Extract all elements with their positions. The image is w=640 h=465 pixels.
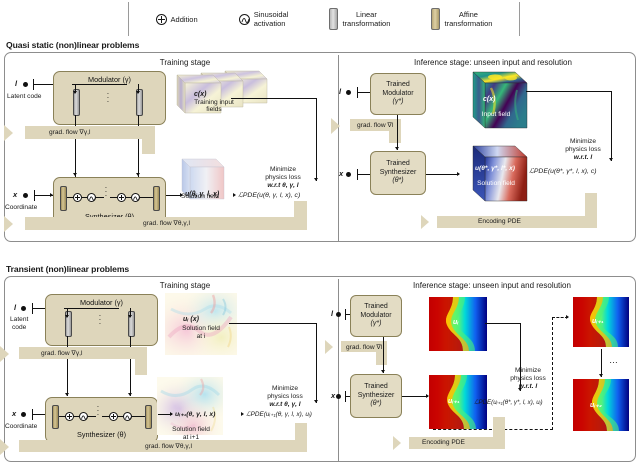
panel2-ellipsis-label: … (609, 355, 618, 365)
panel1-trained-synthesizer-box: Trained Synthesizer (θ*) (370, 151, 426, 195)
panel1-loss-arrow (233, 193, 236, 197)
panel2-grad-top-label: grad. flow ∇γ,l (41, 349, 82, 357)
panel1-synth-sin-2 (131, 193, 140, 202)
panel2-latent-label-1: Latent (10, 316, 28, 323)
panel2-training-field-i1-caption-1: Solution field (153, 426, 229, 434)
panel2-synth-add-2 (109, 412, 118, 421)
panel1-trained-synth-l2: Synthesizer (380, 169, 417, 176)
panel1-latent-wire (33, 84, 53, 85)
legend-item-addition: Addition (156, 14, 198, 25)
panel1-inference-solution-field-image (461, 143, 533, 209)
panel1-inference-input-math: c(x) (483, 96, 495, 103)
linear-transformation-swatch (329, 8, 338, 30)
sinusoidal-activation-icon (239, 14, 250, 25)
panel1-inf-coord-symbol: x (339, 169, 343, 178)
panel2-synth-wire-c (88, 416, 96, 417)
panel2-right-column-wire (601, 349, 602, 377)
panel1-training-minimize-2: physics loss (243, 174, 323, 182)
panel2-modulator-box: Modulator (γ) ··· (45, 294, 158, 346)
panel1-divider (338, 55, 339, 241)
panel2-inf-grad-label: grad. flow ∇l (346, 343, 382, 351)
panel1-training-solution-math: u(θ, γ, l, x) (185, 191, 219, 198)
panel2-trained-modulator-l2: Modulator (360, 312, 391, 319)
panel2-mod-to-syn-arrow-1 (65, 393, 69, 396)
panel1-coord-symbol: x (13, 190, 17, 199)
panel2-inf-grad-ribbon-arrow (325, 340, 333, 354)
panel2-coord-wire (32, 414, 45, 415)
panel1-inf-grad-label: grad. flow ∇l (357, 121, 393, 129)
panel1-synth-add-2 (117, 193, 126, 202)
panel2-latent-symbol: l (14, 303, 16, 312)
panel1-mod-to-syn-1 (75, 115, 76, 177)
panel1-modulator-ellipsis: ··· (98, 92, 118, 104)
panel2-grad-ribbon-top-corner (135, 347, 147, 375)
panel2-title: Transient (non)linear problems (6, 264, 129, 274)
panel2-synth-add-1 (65, 412, 74, 421)
panel2-inference-field-i1-left-label: uᵢ₊₁ (448, 397, 460, 405)
panel1-latent-label: Latent code (7, 93, 41, 100)
panel1-training-stage-title: Training stage (125, 58, 245, 67)
panel2-trained-modulator-box: Trained Modulator (γ*) (350, 295, 402, 337)
panel2-inf-latent-dot (336, 312, 341, 317)
panel1-training-minimize-1: Minimize (243, 166, 323, 174)
panel2-synthesizer-label: Synthesizer (θ) (46, 430, 157, 439)
panel2-grad-ribbon-top-arrow (0, 346, 9, 362)
panel1-synth-affine-out (153, 186, 160, 211)
panel2-synth-out-arrow (170, 412, 173, 416)
panel1-title: Quasi static (non)linear problems (6, 40, 139, 50)
panel1-inf-coord-wire (357, 174, 370, 175)
panel1-inf-mod-to-syn (397, 115, 398, 150)
panel2-inf-mod-to-syn (383, 337, 384, 373)
panel2-latent-label-2: code (12, 324, 26, 331)
legend-label-sinusoidal-l1: Sinusoidal (254, 10, 289, 19)
panel2-training-field-i-image (165, 293, 237, 355)
panel1-encoding-ribbon-corner (585, 193, 597, 228)
panel2-trained-modulator-l3: (γ*) (371, 320, 382, 327)
panel1-encoding-label: Encoding PDE (478, 218, 521, 225)
panel2-transient: Training stage Modulator (γ) ··· l Laten… (4, 276, 636, 462)
panel2-modulator-arrow-2 (128, 315, 132, 318)
panel1-quasi-static: Training stage Modulator (γ) ··· l Laten… (4, 52, 636, 242)
panel2-mod-to-syn-2 (130, 336, 131, 396)
panel1-inference-input-field-image (461, 68, 533, 136)
panel1-trained-modulator-box: Trained Modulator (γ*) (370, 73, 426, 115)
panel2-synth-wire-a (59, 416, 66, 417)
panel2-synth-wire-f (132, 416, 145, 417)
panel1-coord-label: Coordinate (5, 204, 37, 211)
legend-bar: Addition Sinusoidal activation Linear tr… (128, 2, 520, 36)
panel2-inf-coord-symbol: x (331, 391, 335, 400)
panel2-grad-ribbon-bottom-arrow (0, 439, 9, 455)
panel2-encoding-ribbon-corner (493, 417, 505, 449)
panel1-synth-sin-1 (87, 193, 96, 202)
panel2-training-field-i-math: uᵢ (x) (183, 316, 199, 323)
panel1-trained-synth-l3: (θ*) (392, 177, 403, 184)
panel1-training-loss: ℒPDE(u(θ, γ, l, x), c) (238, 191, 300, 199)
panel1-trained-modulator-l3: (γ*) (393, 98, 404, 105)
panel1-synth-wire-d (110, 197, 117, 198)
panel2-grad-ribbon-bottom-corner (295, 423, 307, 452)
panel2-encoding-ribbon-arrow (393, 436, 401, 450)
panel1-training-minimize-3: w.r.t θ, γ, l (243, 182, 323, 190)
legend-item-sinusoidal: Sinusoidal activation (239, 10, 289, 28)
legend-label-sinusoidal-l2: activation (254, 19, 286, 28)
panel1-trained-modulator-l1: Trained (386, 81, 409, 88)
panel1-coord-dot (23, 193, 28, 198)
panel1-inference-solution-math: u(θ*, γ*, l*, x) (475, 165, 515, 172)
panel1-coord-arrow (50, 193, 53, 197)
panel2-encoding-label: Encoding PDE (422, 439, 465, 446)
panel1-synth-wire-f (140, 197, 153, 198)
panel2-synth-sin-2 (123, 412, 132, 421)
panel2-synth-wire-d (102, 416, 109, 417)
panel2-coord-label: Coordinate (5, 423, 37, 430)
panel1-modulator-arrow-1 (73, 91, 77, 94)
affine-transformation-swatch (431, 8, 440, 30)
panel2-inf-coord-dot (336, 394, 341, 399)
legend-label-affine-l2: transformation (444, 19, 492, 28)
legend-label-sinusoidal: Sinusoidal activation (254, 10, 289, 28)
panel2-right-column-arrow (599, 374, 603, 377)
panel2-inf-ui-wire (485, 323, 521, 324)
panel1-latent-dot (23, 82, 28, 87)
panel2-training-minimize-1: Minimize (245, 385, 325, 393)
panel2-trained-synth-l1: Trained (364, 383, 387, 390)
panel1-modulator-internal-wire (72, 84, 127, 85)
panel2-dashed-arrow (566, 315, 569, 319)
panel1-trained-synth-l1: Trained (386, 160, 409, 167)
panel2-trained-modulator-l1: Trained (364, 303, 387, 310)
panel2-inference-stage-title: Inference stage: unseen input and resolu… (357, 281, 627, 290)
panel2-grad-bottom-label: grad. flow ∇θ,γ,l (145, 442, 192, 450)
panel1-synth-wire-c (96, 197, 104, 198)
panel2-synthesizer-box: Synthesizer (θ) ··· (45, 397, 158, 443)
panel1-grad-ribbon-bottom-arrow (4, 216, 13, 232)
panel1-grad-ribbon-top-corner (142, 126, 155, 154)
panel1-synth-wire-b (82, 197, 87, 198)
legend-label-linear: Linear transformation (342, 10, 390, 28)
panel1-mod-to-syn-2 (138, 115, 139, 177)
panel1-trained-modulator-l2: Modulator (382, 90, 413, 97)
panel1-inference-minimize-3: w.r.t. l (545, 154, 621, 162)
panel1-inf-grad-ribbon-arrow (331, 118, 340, 134)
panel2-trained-synth-l3: (θ*) (370, 400, 381, 407)
panel2-modulator-ellipsis: ··· (90, 314, 110, 326)
panel2-grad-ribbon-top (19, 347, 147, 359)
panel2-trained-synth-l2: Synthesizer (358, 392, 395, 399)
panel1-inputfield-to-bus (231, 98, 317, 99)
panel2-mod-to-syn-arrow-2 (128, 393, 132, 396)
panel1-modulator-label: Modulator (γ) (54, 75, 165, 84)
panel1-mod-to-syn-arrow-2 (136, 173, 140, 176)
panel1-inference-input-caption: Input field (465, 111, 527, 119)
panel2-inference-loss: ℒPDE(uᵢ₊₁(θ*, γ*, l, x), uᵢ) (474, 399, 543, 406)
panel1-grad-ribbon-top-arrow (4, 125, 13, 141)
legend-label-linear-l2: transformation (342, 19, 390, 28)
panel2-training-minimize-2: physics loss (245, 393, 325, 401)
panel1-latent-symbol: l (15, 79, 17, 88)
panel1-modulator-arrow-2 (136, 91, 140, 94)
panel1-inf-coord-dot (346, 172, 351, 177)
panel1-inf-latent-wire (357, 92, 370, 93)
legend-item-affine: Affine transformation (431, 8, 492, 30)
panel1-grad-bottom-label: grad. flow ∇θ,γ,l (143, 219, 190, 227)
panel1-synth-wire-a (67, 197, 74, 198)
panel1-grad-ribbon-bottom-corner (294, 201, 307, 230)
panel2-dashed-vertical (552, 317, 553, 430)
panel2-field-i-to-bus (229, 323, 317, 324)
panel2-mod-to-syn-1 (67, 336, 68, 396)
legend-label-addition: Addition (171, 15, 198, 24)
panel2-synth-wire-e (118, 416, 123, 417)
panel1-input-field-math: c(x) (194, 91, 206, 98)
panel2-training-field-i1-math: uᵢ₊₁(θ, γ, l, x) (175, 410, 215, 418)
panel2-inf-synth-out-wire (402, 396, 428, 397)
panel1-inf-synth-out-arrow (457, 172, 460, 176)
panel2-latent-wire (32, 308, 45, 309)
panel1-inf-input-to-bus (526, 91, 612, 92)
legend-label-affine: Affine transformation (444, 10, 492, 28)
panel2-training-field-i-caption-2: at i (163, 333, 239, 341)
panel1-inference-loss: ℒPDE(u(θ*, γ*, l, x), c) (529, 167, 597, 175)
panel1-input-field-caption-2: fields (169, 106, 259, 114)
panel2-synth-affine-out (145, 405, 152, 429)
addition-icon (156, 14, 167, 25)
panel2-inference-field-i-label: uᵢ (453, 319, 458, 326)
panel2-training-stage-title: Training stage (125, 281, 245, 290)
panel2-synth-affine-in (52, 405, 59, 429)
panel1-inference-stage-title: Inference stage: unseen input and resolu… (363, 58, 623, 67)
panel2-inference-field-i1-right-label: uᵢ₊₁ (592, 317, 604, 325)
panel2-inf-latent-wire (345, 314, 350, 315)
panel2-inf-latent-symbol: l (331, 309, 333, 318)
panel2-inf-mod-to-syn-arrow (381, 370, 385, 373)
panel2-inference-field-i2-label: uᵢ₊₂ (590, 401, 602, 409)
panel1-modulator-box: Modulator (γ) ··· (53, 71, 166, 125)
panel1-grad-top-label: grad. flow ∇γ,l (49, 128, 90, 136)
panel2-modulator-arrow-1 (65, 315, 69, 318)
panel2-divider (338, 279, 339, 461)
panel1-synth-affine-in (60, 186, 67, 211)
panel2-training-loss: ℒPDE(uᵢ₊₁(θ, γ, l, x), uᵢ) (246, 410, 312, 418)
panel2-synth-wire-b (74, 416, 79, 417)
panel1-synth-out-arrow (180, 193, 183, 197)
panel1-inf-mod-to-syn-arrow (395, 147, 399, 150)
panel1-inference-minimize-1: Minimize (545, 138, 621, 146)
panel2-training-minimize-3: w.r.t θ, γ, l (245, 401, 325, 409)
panel2-modulator-label: Modulator (γ) (46, 298, 157, 307)
panel1-encoding-ribbon-arrow (421, 215, 429, 229)
legend-label-affine-l1: Affine (459, 10, 478, 19)
panel1-inference-minimize-2: physics loss (545, 146, 621, 154)
panel2-training-field-i-caption-1: Solution field (163, 325, 239, 333)
panel2-coord-symbol: x (12, 409, 16, 418)
panel2-trained-synthesizer-box: Trained Synthesizer (θ*) (350, 374, 402, 418)
panel1-synth-wire-e (126, 197, 131, 198)
panel1-synth-add-1 (73, 193, 82, 202)
panel1-inf-latent-symbol: l (339, 87, 341, 96)
panel2-modulator-internal-wire (64, 308, 119, 309)
panel1-inf-latent-dot (346, 90, 351, 95)
legend-label-linear-l1: Linear (356, 10, 377, 19)
panel2-latent-dot (21, 306, 26, 311)
panel1-inference-solution-caption: Solution field (463, 180, 529, 188)
panel2-coord-dot (21, 412, 26, 417)
panel2-training-loss-arrow (241, 412, 244, 416)
panel1-mod-to-syn-arrow-1 (73, 173, 77, 176)
panel2-inf-coord-wire (345, 396, 350, 397)
panel1-inf-synth-out-wire (426, 174, 459, 175)
panel2-synth-sin-1 (79, 412, 88, 421)
legend-item-linear: Linear transformation (329, 8, 390, 30)
